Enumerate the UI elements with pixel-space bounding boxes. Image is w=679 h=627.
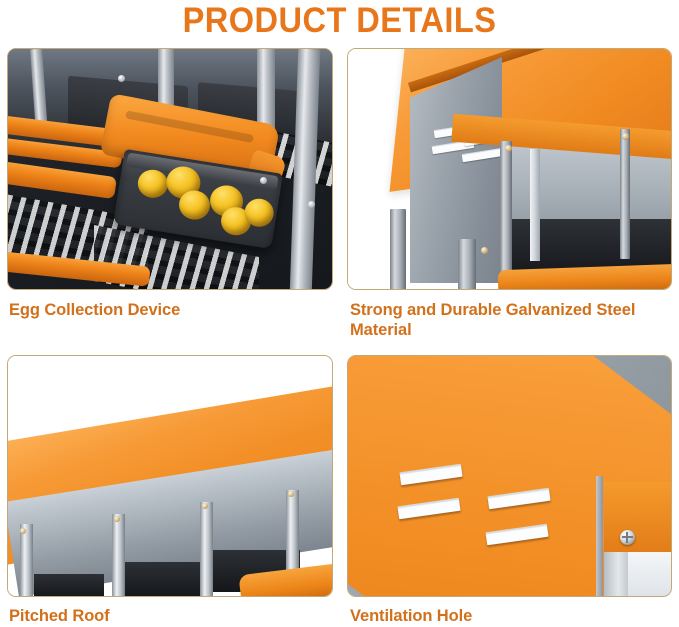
- lower-metal-strip: [604, 552, 628, 597]
- wall-seam-strip: [530, 149, 540, 261]
- bolt-1: [118, 75, 125, 82]
- divider-post-2: [112, 514, 125, 597]
- corner-post-front: [500, 141, 512, 290]
- leg-bracket-right: [458, 239, 476, 290]
- corner-seam: [596, 476, 603, 597]
- lower-white-panel: [628, 552, 672, 597]
- screw-2: [114, 516, 120, 522]
- divider-post-1: [20, 524, 33, 597]
- caption-galvanized-steel: Strong and Durable Galvanized Steel Mate…: [350, 300, 672, 340]
- product-image-panel-pitched-roof: [7, 355, 333, 597]
- roof-corner-fascia: [604, 482, 672, 554]
- product-image-panel-ventilation-hole: [347, 355, 672, 597]
- screw-3: [481, 247, 488, 254]
- leg-bracket-left: [390, 209, 406, 290]
- screw-1: [20, 528, 26, 534]
- screw-3: [202, 503, 208, 509]
- caption-egg-collection: Egg Collection Device: [9, 300, 329, 320]
- bolt-3: [308, 201, 315, 208]
- roof-screw-icon: [620, 530, 635, 545]
- orange-rail-c: [7, 161, 117, 199]
- interior-shadow-2: [116, 562, 206, 597]
- product-details-page: PRODUCT DETAILS: [0, 0, 679, 627]
- product-image-panel-galvanized-steel: [347, 48, 672, 290]
- photo-egg-collection: [8, 49, 332, 289]
- screw-2: [622, 133, 629, 140]
- screw-1: [505, 145, 512, 152]
- photo-pitched-roof: [8, 356, 332, 596]
- photo-galvanized-steel: [348, 49, 671, 289]
- photo-ventilation-hole: [348, 356, 671, 596]
- divider-post-3: [200, 502, 213, 597]
- interior-shadow-1: [34, 574, 104, 597]
- divider-post: [620, 129, 630, 259]
- bolt-2: [260, 177, 267, 184]
- page-title: PRODUCT DETAILS: [24, 0, 655, 44]
- caption-pitched-roof: Pitched Roof: [9, 606, 329, 626]
- screw-4: [288, 491, 294, 497]
- caption-ventilation-hole: Ventilation Hole: [350, 606, 672, 626]
- product-image-panel-egg-collection: [7, 48, 333, 290]
